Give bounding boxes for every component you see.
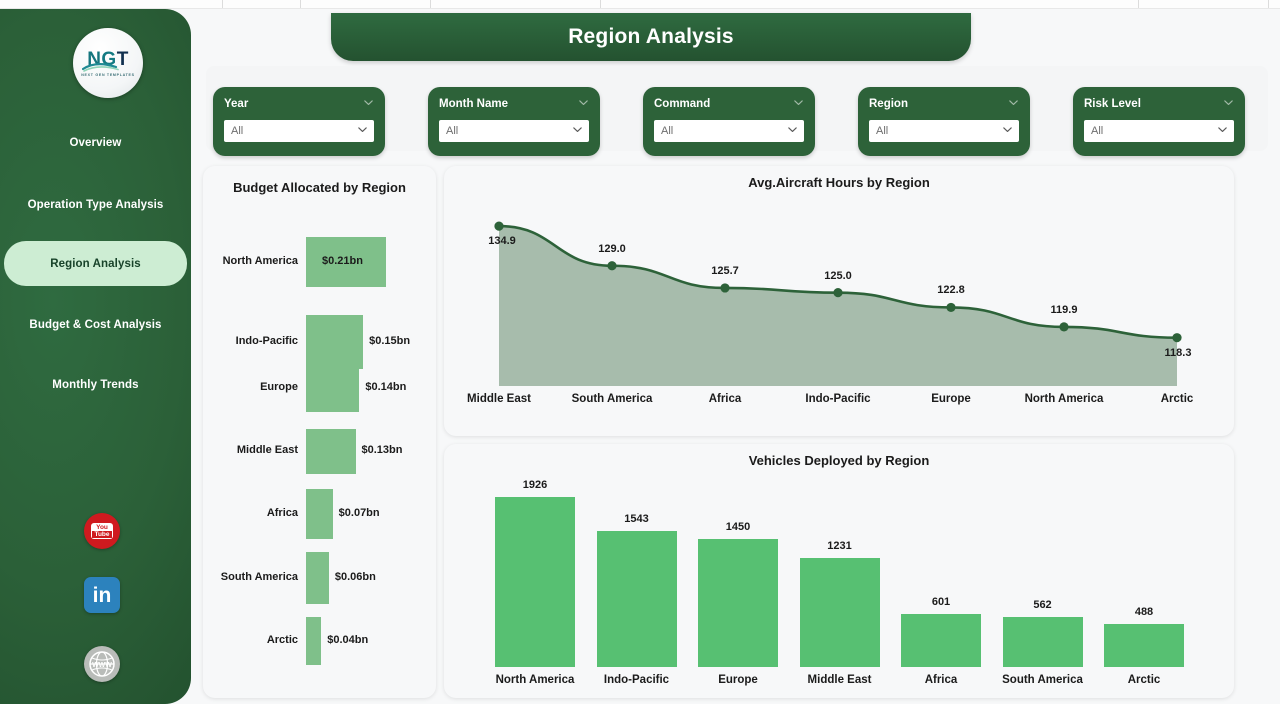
sidebar-item-label: Operation Type Analysis	[28, 199, 164, 211]
slicer-label: Region	[869, 98, 908, 110]
logo-wordmark: NGT	[87, 50, 129, 69]
linkedin-label: in	[93, 585, 112, 606]
hours-value-label: 118.3	[1165, 347, 1192, 359]
strip-separator	[600, 0, 601, 9]
sidebar-item-budget-cost-analysis[interactable]: Budget & Cost Analysis	[4, 302, 187, 347]
budget-category-label: Africa	[267, 507, 298, 519]
logo-circle: NGT NEXT GEN TEMPLATES	[73, 28, 143, 98]
youtube-icon[interactable]: You Tube	[84, 513, 120, 549]
slicer-value: All	[1091, 125, 1103, 137]
logo-subtitle: NEXT GEN TEMPLATES	[81, 73, 134, 77]
data-point[interactable]	[946, 303, 955, 312]
page-title: Region Analysis	[568, 25, 734, 49]
app-logo: NGT NEXT GEN TEMPLATES	[73, 28, 143, 98]
aircraft-hours-by-region-card: Avg.Aircraft Hours by Region 134.9Middle…	[444, 166, 1234, 436]
vehicles-category-label: Europe	[718, 674, 758, 686]
sidebar-item-monthly-trends[interactable]: Monthly Trends	[4, 362, 187, 407]
budget-bar[interactable]	[306, 364, 359, 412]
hours-chart-plot: 134.9Middle East129.0South America125.7A…	[444, 190, 1234, 412]
sidebar: NGT NEXT GEN TEMPLATES Overview Operatio…	[0, 9, 191, 704]
vehicles-category-label: South America	[1002, 674, 1083, 686]
logo-swoosh-icon	[82, 62, 128, 72]
hours-value-label: 122.8	[937, 284, 965, 296]
sidebar-item-label: Monthly Trends	[52, 379, 138, 391]
strip-separator	[300, 0, 301, 9]
slicer-year[interactable]: Year All	[213, 87, 385, 156]
slicer-label: Month Name	[439, 98, 508, 110]
vehicles-category-label: North America	[496, 674, 575, 686]
budget-value-label: $0.06bn	[335, 571, 376, 583]
strip-separator	[1138, 0, 1139, 9]
website-globe-icon[interactable]: WWW	[84, 646, 120, 682]
sidebar-item-region-analysis[interactable]: Region Analysis	[4, 241, 187, 286]
sidebar-item-operation-type-analysis[interactable]: Operation Type Analysis	[4, 182, 187, 227]
slicer-dropdown[interactable]: All	[1084, 120, 1234, 142]
slicer-dropdown[interactable]: All	[654, 120, 804, 142]
dashboard-root: NGT NEXT GEN TEMPLATES Overview Operatio…	[0, 0, 1280, 704]
vehicles-bar[interactable]	[800, 558, 880, 667]
hours-category-label: North America	[1025, 393, 1104, 405]
hours-category-label: South America	[572, 393, 653, 405]
vehicles-value-label: 562	[1033, 599, 1051, 611]
filter-bar: Year All Month Name All Command	[206, 66, 1268, 151]
chevron-down-icon[interactable]	[572, 122, 583, 140]
hours-value-label: 119.9	[1051, 304, 1078, 316]
budget-category-label: North America	[223, 255, 298, 267]
area-chart-svg	[444, 190, 1234, 412]
strip-separator	[1268, 0, 1269, 9]
chevron-down-icon[interactable]	[787, 122, 798, 140]
budget-bar[interactable]	[306, 617, 321, 665]
top-cutoff-strip	[0, 0, 1280, 9]
vehicles-value-label: 1543	[624, 513, 648, 525]
data-point[interactable]	[1172, 333, 1181, 342]
chevron-down-icon[interactable]	[357, 122, 368, 140]
vehicles-category-label: Arctic	[1128, 674, 1161, 686]
budget-category-label: Arctic	[267, 634, 298, 646]
slicer-dropdown[interactable]: All	[869, 120, 1019, 142]
svg-text:WWW: WWW	[92, 662, 112, 669]
page-title-banner: Region Analysis	[331, 13, 971, 61]
budget-category-label: Indo-Pacific	[236, 335, 298, 347]
budget-bar[interactable]	[306, 429, 356, 474]
hours-category-label: Africa	[709, 393, 742, 405]
sidebar-item-label: Overview	[70, 137, 122, 149]
budget-by-region-card: Budget Allocated by Region North America…	[203, 166, 436, 698]
sidebar-item-label: Budget & Cost Analysis	[29, 319, 161, 331]
strip-separator	[430, 0, 431, 9]
vehicles-value-label: 488	[1135, 606, 1153, 618]
chevron-down-icon[interactable]	[1008, 95, 1019, 113]
chevron-down-icon[interactable]	[1217, 122, 1228, 140]
budget-value-label: $0.14bn	[365, 381, 406, 393]
budget-category-label: Europe	[260, 381, 298, 393]
vehicles-value-label: 601	[932, 596, 950, 608]
budget-value-label: $0.21bn	[322, 255, 363, 267]
budget-bar[interactable]	[306, 552, 329, 604]
vehicles-bar[interactable]	[495, 497, 575, 667]
slicer-value: All	[446, 125, 458, 137]
slicer-label: Command	[654, 98, 710, 110]
budget-category-label: Middle East	[237, 444, 298, 456]
vehicles-bar[interactable]	[698, 539, 778, 667]
vehicles-category-label: Africa	[925, 674, 958, 686]
vehicles-bar[interactable]	[1003, 617, 1083, 667]
budget-category-label: South America	[221, 571, 298, 583]
chevron-down-icon[interactable]	[793, 95, 804, 113]
chevron-down-icon[interactable]	[1002, 122, 1013, 140]
budget-bar[interactable]	[306, 315, 363, 369]
data-point[interactable]	[1059, 322, 1068, 331]
budget-value-label: $0.04bn	[327, 634, 368, 646]
slicer-region[interactable]: Region All	[858, 87, 1030, 156]
hours-category-label: Europe	[931, 393, 971, 405]
slicer-dropdown[interactable]: All	[224, 120, 374, 142]
hours-value-label: 125.0	[824, 270, 852, 282]
hours-chart-title: Avg.Aircraft Hours by Region	[444, 175, 1234, 190]
sidebar-item-label: Region Analysis	[50, 258, 141, 270]
slicer-value: All	[231, 125, 243, 137]
sidebar-item-overview[interactable]: Overview	[4, 120, 187, 165]
slicer-label: Year	[224, 98, 248, 110]
slicer-label: Risk Level	[1084, 98, 1141, 110]
slicer-value: All	[661, 125, 673, 137]
hours-category-label: Indo-Pacific	[805, 393, 870, 405]
vehicles-bar[interactable]	[597, 531, 677, 667]
hours-value-label: 129.0	[598, 243, 626, 255]
budget-value-label: $0.13bn	[362, 444, 403, 456]
vehicles-value-label: 1450	[726, 521, 750, 533]
chevron-down-icon[interactable]	[578, 95, 589, 113]
vehicles-value-label: 1231	[827, 540, 851, 552]
data-point[interactable]	[833, 288, 842, 297]
chevron-down-icon[interactable]	[363, 95, 374, 113]
youtube-label-tube: Tube	[92, 531, 111, 538]
vehicles-by-region-card: Vehicles Deployed by Region 1926 North A…	[444, 444, 1234, 698]
hours-category-label: Middle East	[467, 393, 531, 405]
hours-value-label: 134.9	[488, 235, 516, 247]
budget-value-label: $0.15bn	[369, 335, 410, 347]
slicer-value: All	[876, 125, 888, 137]
strip-separator	[222, 0, 223, 9]
chevron-down-icon[interactable]	[1223, 95, 1234, 113]
data-point[interactable]	[720, 283, 729, 292]
budget-value-label: $0.07bn	[339, 507, 380, 519]
slicer-dropdown[interactable]: All	[439, 120, 589, 142]
hours-value-label: 125.7	[711, 265, 739, 277]
budget-chart-title: Budget Allocated by Region	[203, 180, 436, 195]
linkedin-icon[interactable]: in	[84, 577, 120, 613]
vehicles-chart-title: Vehicles Deployed by Region	[444, 453, 1234, 468]
vehicles-bar[interactable]	[901, 614, 981, 667]
vehicles-category-label: Middle East	[808, 674, 872, 686]
vehicles-category-label: Indo-Pacific	[604, 674, 669, 686]
hours-category-label: Arctic	[1161, 393, 1194, 405]
slicer-command[interactable]: Command All	[643, 87, 815, 156]
slicer-month-name[interactable]: Month Name All	[428, 87, 600, 156]
vehicles-value-label: 1926	[523, 479, 547, 491]
budget-bar[interactable]	[306, 489, 333, 539]
data-point[interactable]	[494, 222, 503, 231]
data-point[interactable]	[607, 261, 616, 270]
report-canvas: NGT NEXT GEN TEMPLATES Overview Operatio…	[0, 9, 1280, 704]
slicer-risk-level[interactable]: Risk Level All	[1073, 87, 1245, 156]
vehicles-bar[interactable]	[1104, 624, 1184, 667]
